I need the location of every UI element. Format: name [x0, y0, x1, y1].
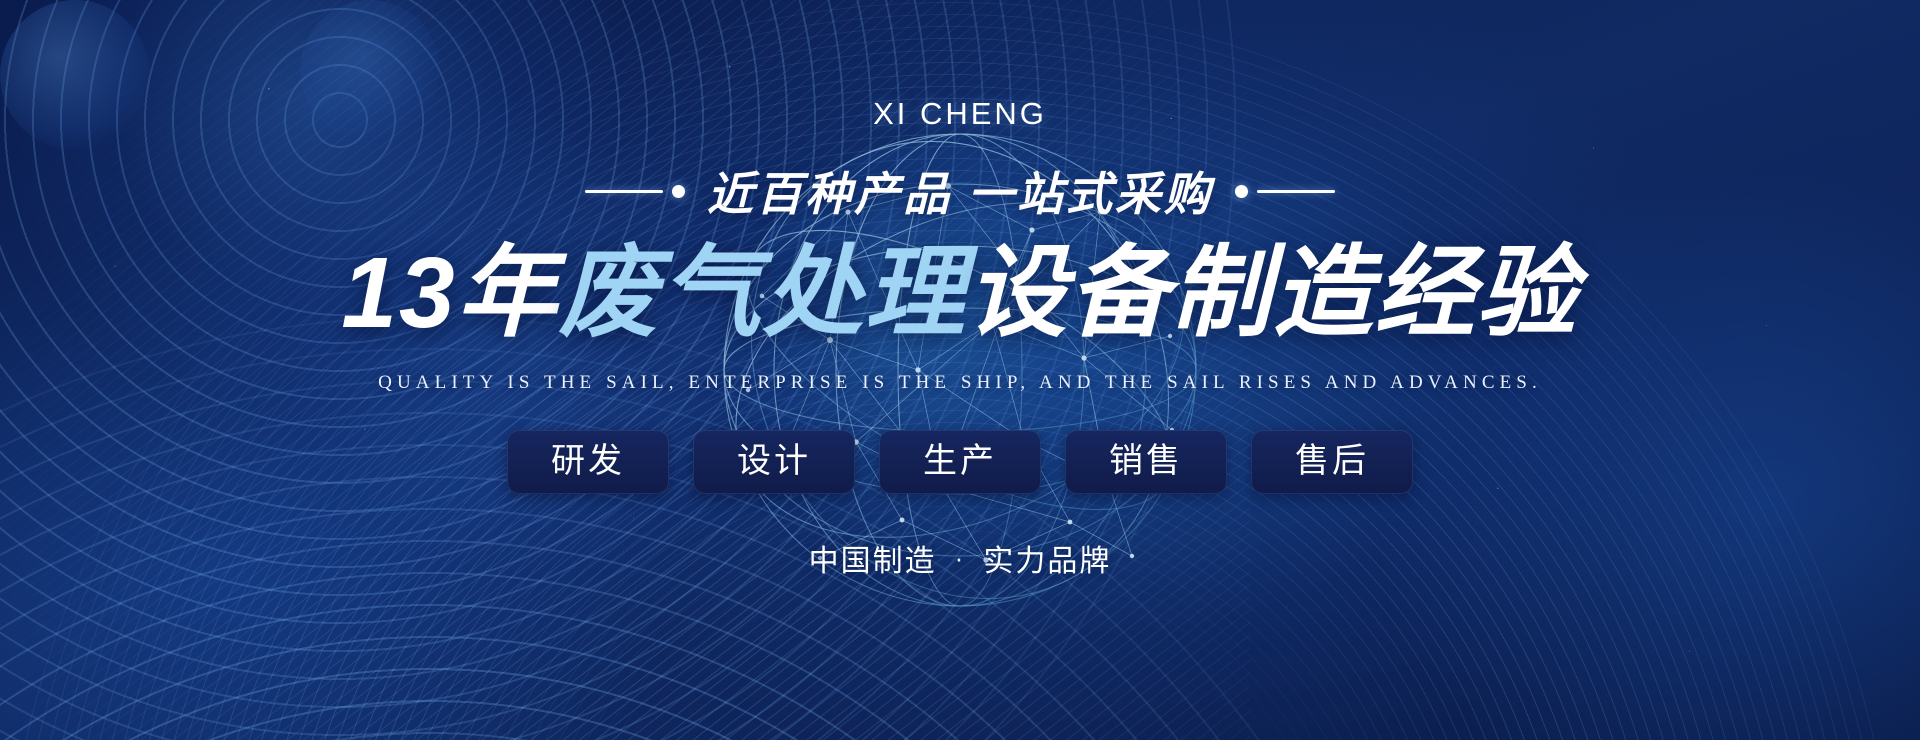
service-pill-aftersales[interactable]: 售后 — [1251, 430, 1413, 494]
deco-bar-right — [1257, 190, 1335, 193]
deco-dot-right — [1235, 185, 1248, 198]
decorative-dot-line-right-icon — [1235, 185, 1335, 198]
subtitle-row: 近百种产品 一站式采购 — [585, 158, 1335, 224]
service-pill-production[interactable]: 生产 — [879, 430, 1041, 494]
headline-prefix: 13年 — [341, 237, 558, 349]
subtitle-text: 近百种产品 一站式采购 — [707, 158, 1213, 224]
service-pill-row: 研发 设计 生产 销售 售后 — [507, 430, 1413, 494]
hero-banner: XI CHENG 近百种产品 一站式采购 13年废气处理设备制造经验 QUALI… — [0, 0, 1920, 740]
headline-accent: 废气处理 — [559, 237, 967, 349]
service-pill-sales[interactable]: 销售 — [1065, 430, 1227, 494]
service-pill-design[interactable]: 设计 — [693, 430, 855, 494]
headline-suffix: 设备制造经验 — [967, 237, 1579, 349]
service-pill-rd[interactable]: 研发 — [507, 430, 669, 494]
english-tagline: QUALITY IS THE SAIL, ENTERPRISE IS THE S… — [378, 372, 1542, 394]
page-title: 13年废气处理设备制造经验 — [341, 232, 1578, 354]
footer-slogan-right: 实力品牌 — [983, 536, 1111, 580]
deco-dot-left — [672, 185, 685, 198]
decorative-line-dot-left-icon — [585, 185, 685, 198]
brand-name-english: XI CHENG — [873, 96, 1047, 132]
footer-slogan-left: 中国制造 — [809, 536, 937, 580]
deco-bar-left — [585, 190, 663, 193]
footer-separator-dot: · — [955, 543, 966, 574]
banner-content: XI CHENG 近百种产品 一站式采购 13年废气处理设备制造经验 QUALI… — [0, 0, 1920, 740]
footer-slogan: 中国制造 · 实力品牌 — [809, 536, 1112, 580]
